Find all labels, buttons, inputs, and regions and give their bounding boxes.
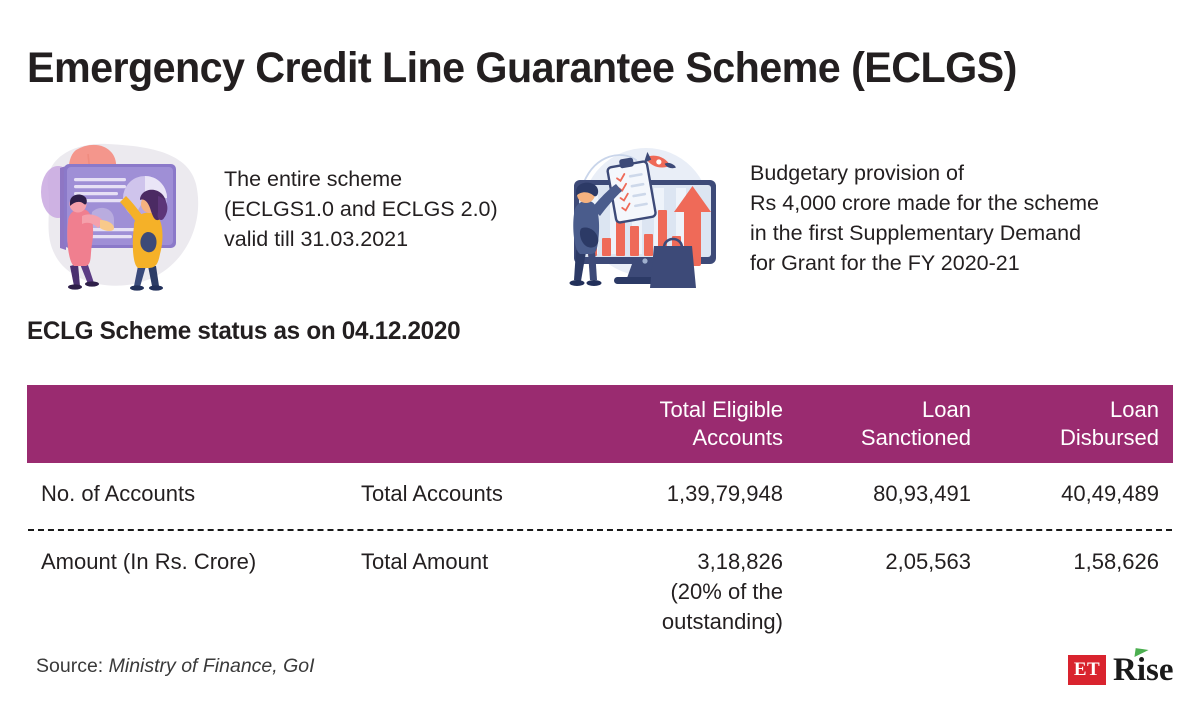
et-rise-logo: ET Rise [1068, 652, 1174, 688]
fact-line: valid till 31.03.2021 [224, 224, 498, 254]
fact-line: The entire scheme [224, 164, 498, 194]
header-line-2: Accounts [606, 424, 783, 452]
cell-amount-eligible: 3,18,826 (20% of the outstanding) [592, 547, 797, 637]
cell-amount-sanctioned: 2,05,563 [797, 547, 985, 577]
leaf-icon [1134, 648, 1148, 659]
source-note: Source: Ministry of Finance, GoI [36, 655, 315, 678]
header-line-2: Disbursed [999, 424, 1159, 452]
row-label-amount: Amount (In Rs. Crore) [27, 547, 347, 577]
cell-amount-disbursed: 1,58,626 [985, 547, 1173, 577]
cell-accounts-eligible: 1,39,79,948 [592, 479, 797, 509]
et-logo-mark: ET [1068, 655, 1106, 685]
monitor-bar-chart-illustration [562, 136, 734, 294]
source-value: Ministry of Finance, GoI [109, 655, 315, 677]
fact-text-scheme-validity: The entire scheme (ECLGS1.0 and ECLGS 2.… [224, 164, 498, 254]
table-header-loan-disbursed: Loan Disbursed [985, 396, 1173, 452]
rise-wordmark: Rise [1113, 655, 1174, 685]
cell-accounts-disbursed: 40,49,489 [985, 479, 1173, 509]
fact-text-budget-provision: Budgetary provision of Rs 4,000 crore ma… [750, 158, 1099, 278]
cell-amount-eligible-note-1: (20% of the [606, 577, 783, 607]
fact-block-scheme-validity: The entire scheme (ECLGS1.0 and ECLGS 2.… [30, 136, 498, 291]
presentation-board-illustration [30, 136, 210, 291]
fact-line: Rs 4,000 crore made for the scheme [750, 188, 1099, 218]
fact-line: for Grant for the FY 2020-21 [750, 248, 1099, 278]
table-row: No. of Accounts Total Accounts 1,39,79,9… [27, 463, 1173, 529]
table-header-loan-sanctioned: Loan Sanctioned [797, 396, 985, 452]
row-sublabel-total-accounts: Total Accounts [347, 479, 592, 509]
section-subtitle: ECLG Scheme status as on 04.12.2020 [27, 317, 460, 346]
cell-accounts-sanctioned: 80,93,491 [797, 479, 985, 509]
fact-line: Budgetary provision of [750, 158, 1099, 188]
page-title: Emergency Credit Line Guarantee Scheme (… [27, 44, 1017, 93]
cell-amount-eligible-note-2: outstanding) [606, 607, 783, 637]
fact-line: (ECLGS1.0 and ECLGS 2.0) [224, 194, 498, 224]
row-sublabel-total-amount: Total Amount [347, 547, 592, 577]
fact-line: in the first Supplementary Demand [750, 218, 1099, 248]
eclgs-status-table: Total Eligible Accounts Loan Sanctioned … [27, 385, 1173, 657]
table-header-row: Total Eligible Accounts Loan Sanctioned … [27, 385, 1173, 463]
header-line-1: Loan [811, 396, 971, 424]
header-line-1: Loan [999, 396, 1159, 424]
header-line-1: Total Eligible [606, 396, 783, 424]
cell-amount-eligible-value: 3,18,826 [606, 547, 783, 577]
header-line-2: Sanctioned [811, 424, 971, 452]
fact-block-budget-provision: Budgetary provision of Rs 4,000 crore ma… [562, 136, 1099, 294]
table-header-total-eligible-accounts: Total Eligible Accounts [592, 396, 797, 452]
table-row: Amount (In Rs. Crore) Total Amount 3,18,… [27, 531, 1173, 657]
row-label-no-of-accounts: No. of Accounts [27, 479, 347, 509]
source-label: Source: [36, 655, 103, 677]
